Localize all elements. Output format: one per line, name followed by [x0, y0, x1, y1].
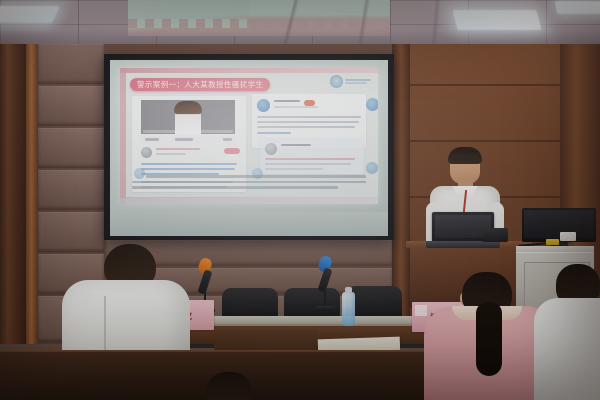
ceiling-light-left: [0, 6, 60, 23]
ceiling-light-far-right: [555, 1, 600, 14]
post-avatar: [257, 99, 270, 112]
presentation-slide: 警示案例一：人大某教授性骚扰学生: [120, 68, 378, 204]
wood-trim-far-left: [0, 44, 26, 344]
attendee-head: [206, 372, 252, 400]
wood-column-left: [26, 44, 38, 344]
slide-left-accent: [120, 68, 126, 204]
attendee-ponytail: [476, 302, 502, 376]
video-thumbnail: [141, 100, 235, 134]
lecture-hall-photo: 警示案例一：人大某教授性骚扰学生: [0, 0, 600, 400]
quoted-text-line: [265, 163, 351, 165]
post-avatar: [141, 147, 152, 158]
attendee-far-right: [540, 268, 600, 400]
video-controls: [141, 136, 235, 143]
university-logo: [330, 75, 371, 88]
post-text-line: [141, 163, 237, 165]
post-handle: [274, 100, 300, 102]
logo-wordmark: [345, 79, 371, 85]
yellow-cable-adapter: [546, 239, 559, 245]
post-hashtag[interactable]: [257, 132, 291, 134]
slide-footer-strip: [120, 198, 378, 204]
side-avatar: [366, 162, 378, 174]
side-avatar: [366, 98, 378, 111]
post-text-line: [257, 116, 361, 118]
follow-button[interactable]: [224, 148, 240, 154]
water-bottle-right: [342, 292, 355, 326]
quoted-text-line: [265, 168, 323, 170]
white-device-box: [560, 232, 576, 241]
quoted-avatar: [265, 143, 277, 155]
slide-top-accent: [120, 68, 378, 73]
microphone-blue: [318, 256, 332, 312]
presenter-hair: [448, 147, 482, 164]
ceiling-light-right: [453, 10, 542, 30]
post-text-line: [141, 168, 235, 170]
attendee-shirt: [534, 298, 600, 400]
chair: [222, 288, 278, 318]
post-handle: [156, 148, 200, 150]
post-timestamp: [274, 106, 318, 108]
slide-title: 警示案例一：人大某教授性骚扰学生: [130, 78, 270, 91]
weibo-quoted-post: [260, 138, 364, 174]
attendee-bottom-center: [188, 372, 308, 400]
ceiling: [0, 0, 600, 46]
quoted-text-line: [265, 158, 355, 160]
post-timestamp: [156, 153, 186, 155]
quoted-handle: [281, 144, 311, 146]
laptop-keyboard[interactable]: [426, 241, 500, 248]
podium-microphone: [482, 228, 508, 242]
projection-screen-lower: [110, 212, 388, 236]
slide-body-paragraph: [132, 175, 366, 192]
post-text-line: [257, 121, 359, 123]
emblem-icon: [330, 75, 343, 88]
post-text-line: [257, 126, 355, 128]
monitor-screen: [522, 208, 596, 242]
